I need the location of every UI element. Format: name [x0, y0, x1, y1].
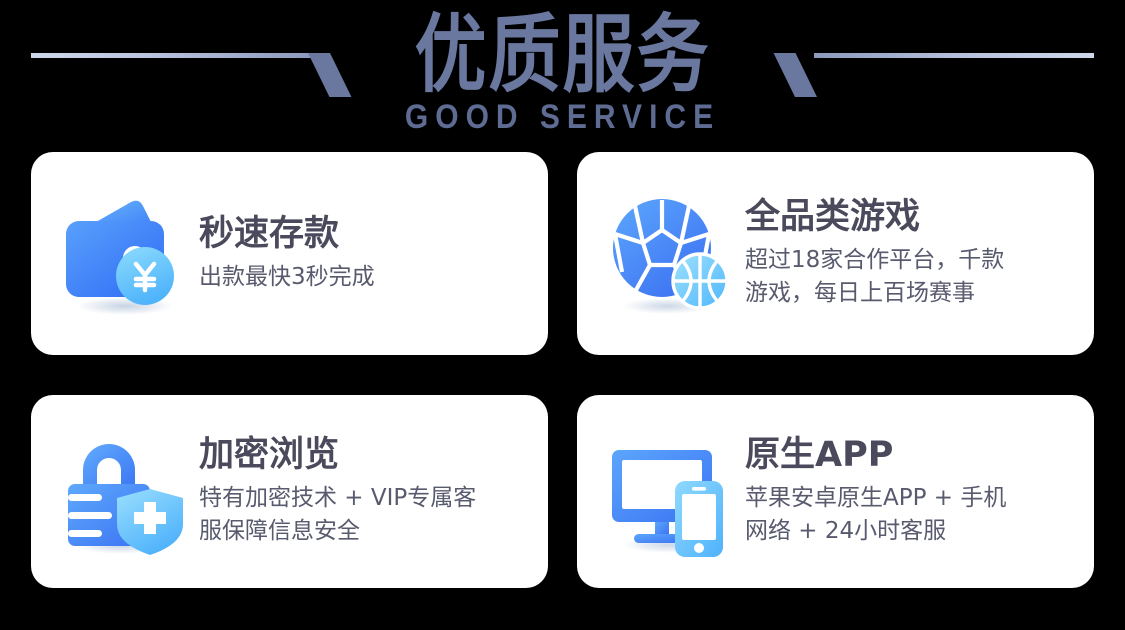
lock-shield-icon: [59, 426, 191, 558]
card-text-block: 全品类游戏 超过18家合作平台，千款 游戏，每日上百场赛事: [745, 197, 1094, 310]
card-description: 苹果安卓原生APP + 手机 网络 + 24小时客服: [745, 482, 1082, 547]
card-text-block: 秒速存款 出款最快3秒完成: [199, 214, 548, 294]
wallet-yen-icon: [59, 188, 191, 320]
card-description: 超过18家合作平台，千款 游戏，每日上百场赛事: [745, 244, 1082, 309]
feature-card-encryption[interactable]: 加密浏览 特有加密技术 + VIP专属客 服保障信息安全: [31, 395, 548, 588]
feature-card-deposit[interactable]: 秒速存款 出款最快3秒完成: [31, 152, 548, 355]
page-subtitle: GOOD SERVICE: [0, 98, 1125, 137]
card-text-block: 加密浏览 特有加密技术 + VIP专属客 服保障信息安全: [199, 435, 548, 548]
card-title: 秒速存款: [199, 214, 536, 254]
feature-card-grid: 秒速存款 出款最快3秒完成: [31, 152, 1094, 588]
promo-page: 优质服务 GOOD SERVICE: [0, 0, 1125, 630]
card-title: 全品类游戏: [745, 197, 1082, 237]
card-text-block: 原生APP 苹果安卓原生APP + 手机 网络 + 24小时客服: [745, 435, 1094, 548]
soccer-basketball-icon: [605, 188, 737, 320]
monitor-phone-icon: [605, 426, 737, 558]
page-title: 优质服务: [0, 6, 1125, 104]
card-description: 出款最快3秒完成: [199, 261, 536, 294]
section-header: 优质服务 GOOD SERVICE: [0, 0, 1125, 148]
feature-card-games[interactable]: 全品类游戏 超过18家合作平台，千款 游戏，每日上百场赛事: [577, 152, 1094, 355]
feature-card-native-app[interactable]: 原生APP 苹果安卓原生APP + 手机 网络 + 24小时客服: [577, 395, 1094, 588]
card-description: 特有加密技术 + VIP专属客 服保障信息安全: [199, 482, 536, 547]
card-title: 原生APP: [745, 435, 1082, 475]
card-title: 加密浏览: [199, 435, 536, 475]
